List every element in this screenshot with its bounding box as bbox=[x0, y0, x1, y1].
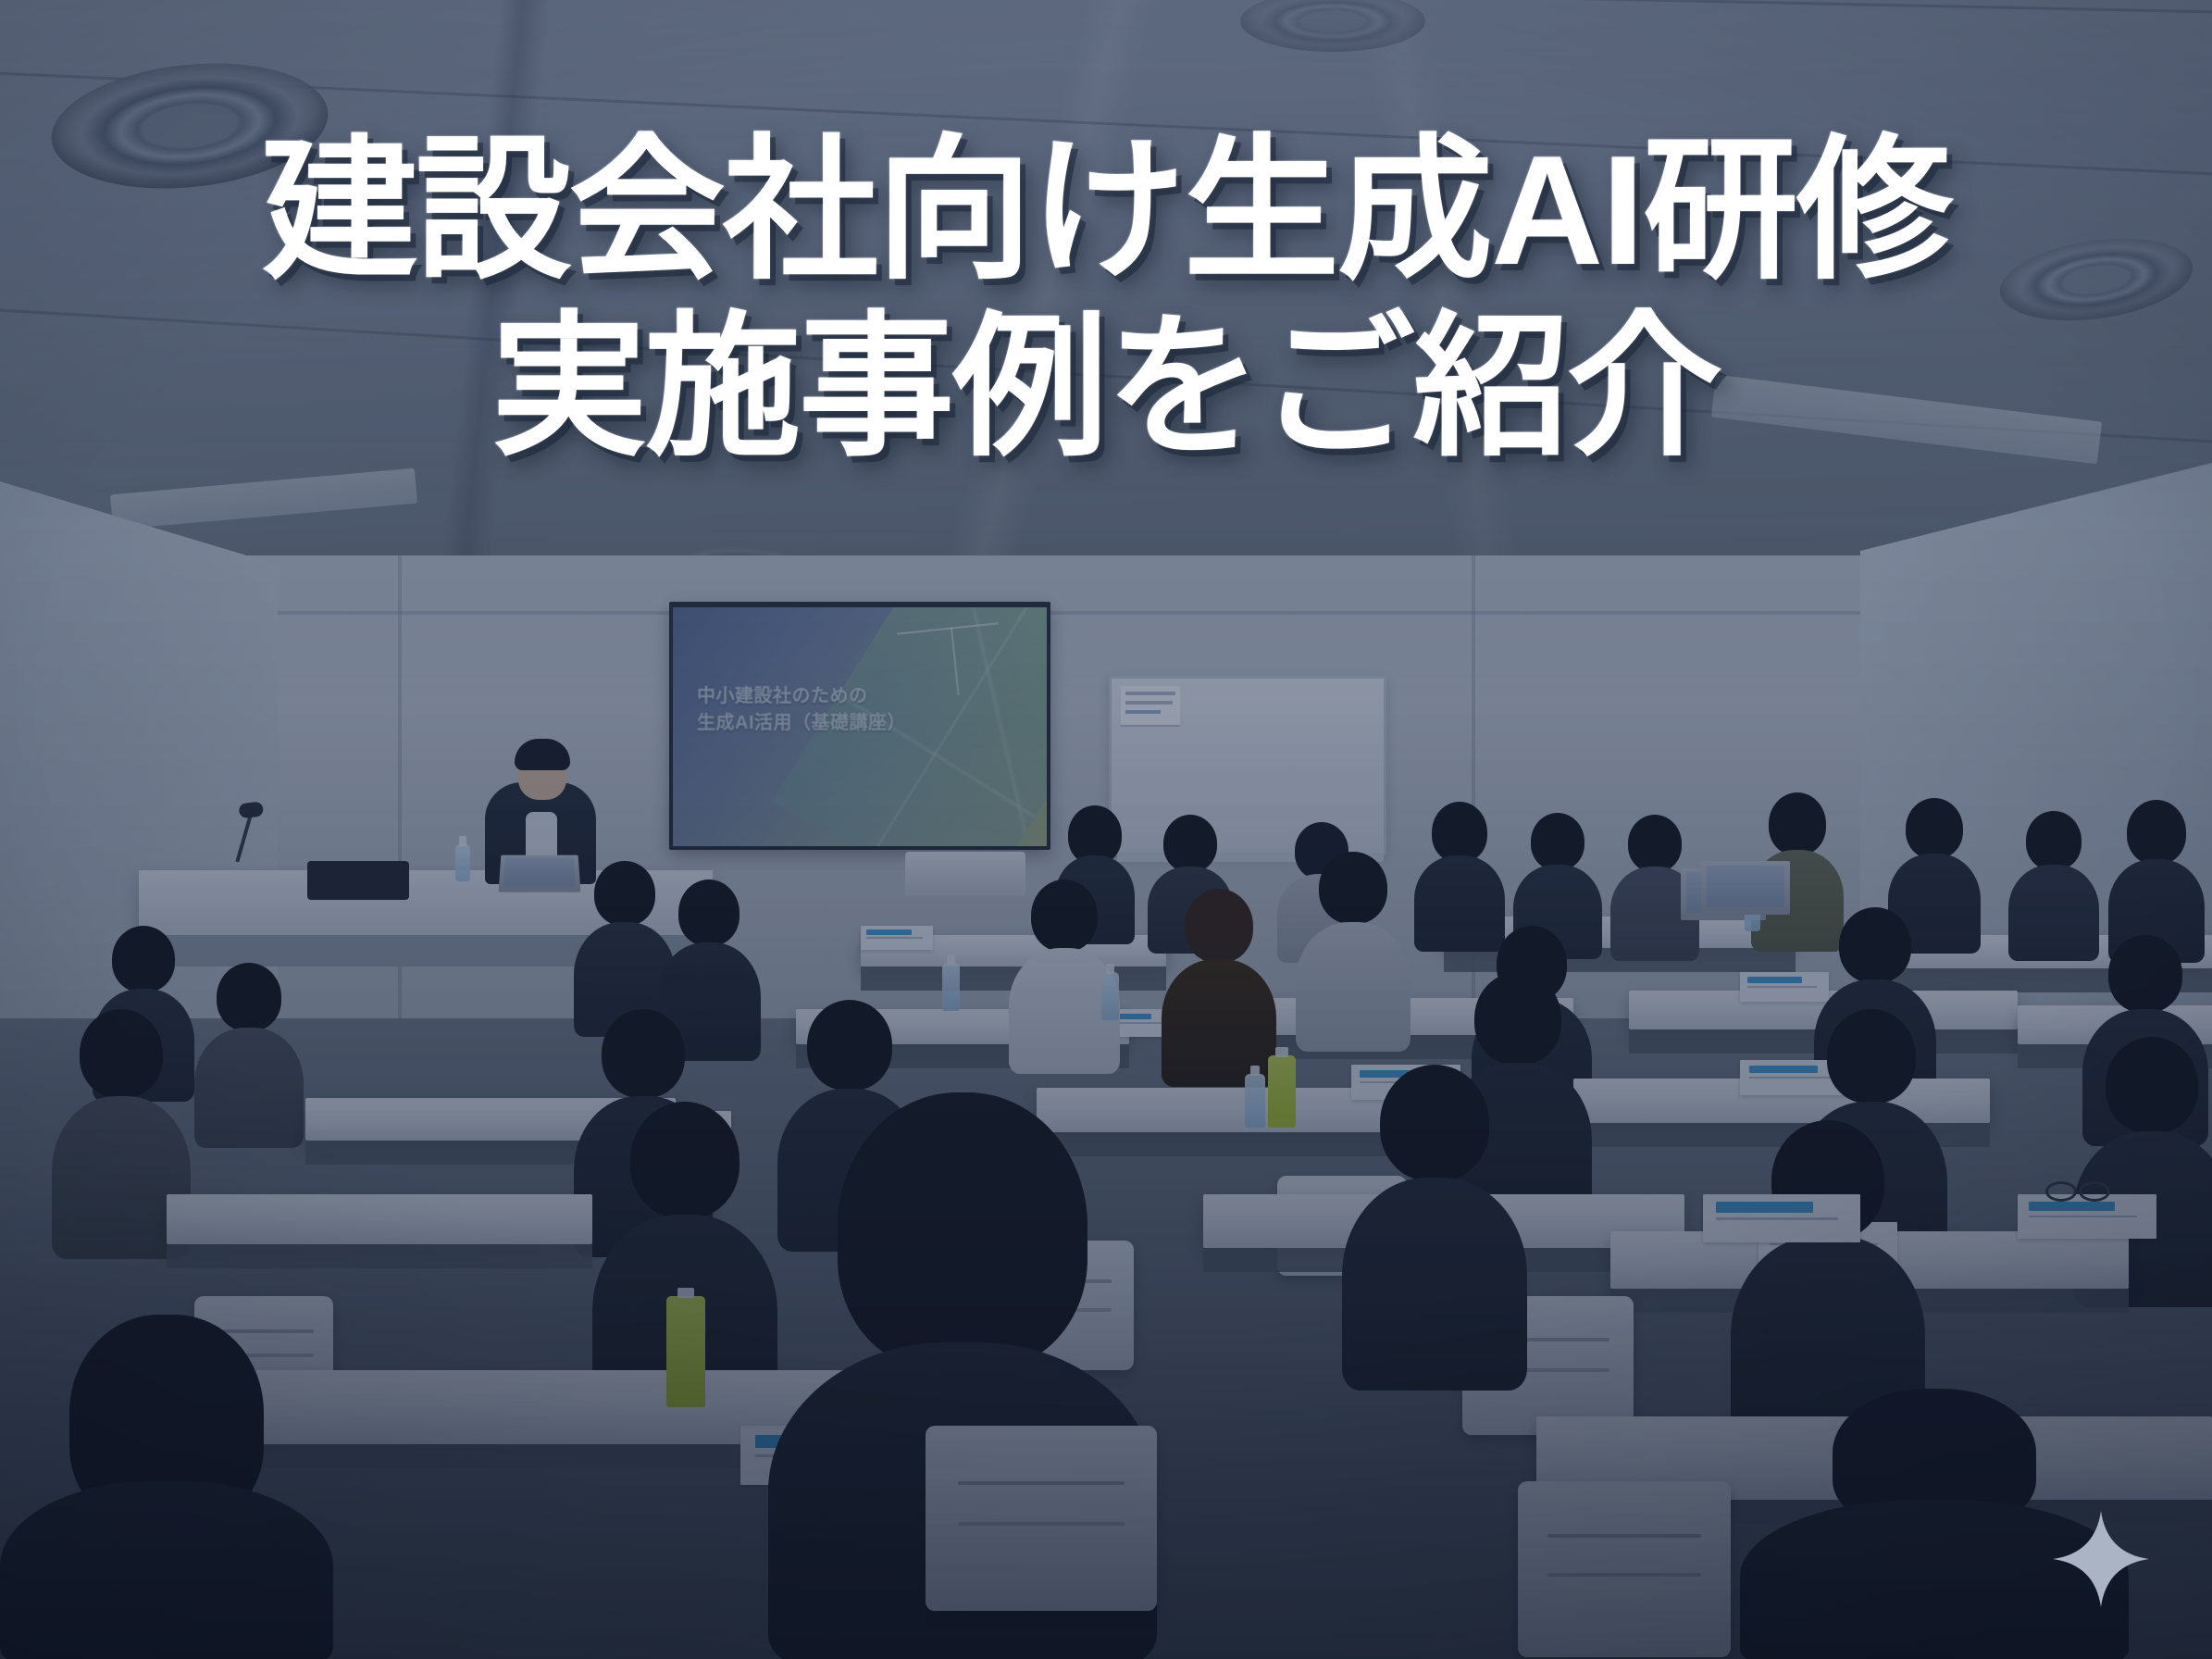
sparkle-icon bbox=[2051, 1509, 2151, 1609]
vignette-overlay bbox=[0, 0, 2212, 1659]
banner-frame: 中小建設社のための 生成AI活用（基礎講座） bbox=[0, 0, 2212, 1659]
seminar-room-photo: 中小建設社のための 生成AI活用（基礎講座） bbox=[0, 0, 2212, 1659]
